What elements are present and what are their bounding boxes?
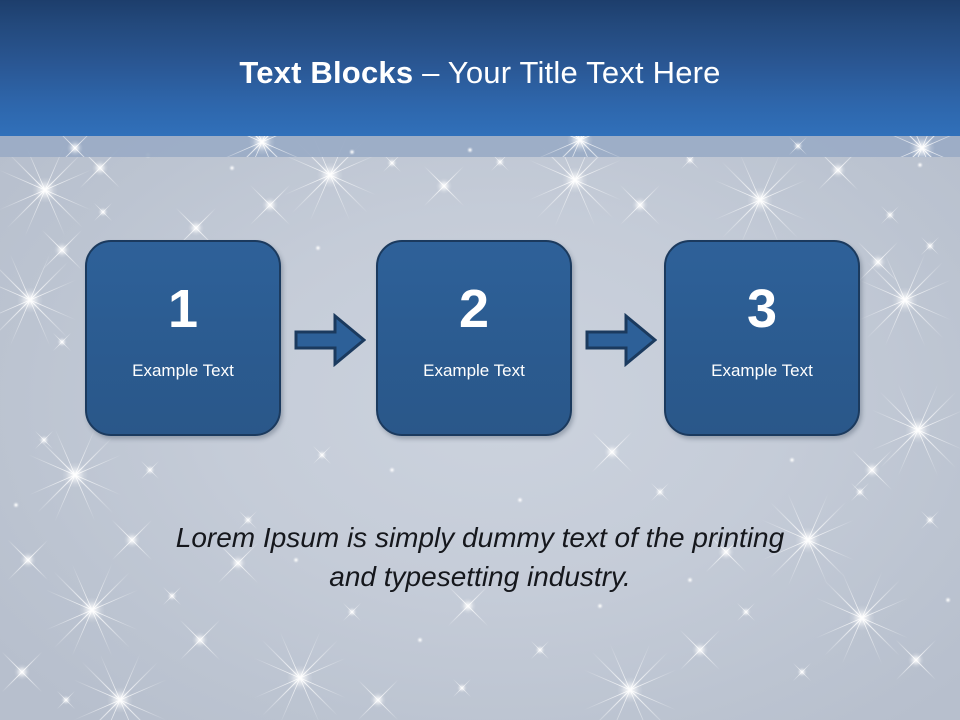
header-accent-band <box>0 136 960 157</box>
page-title-bold: Text Blocks <box>239 55 413 90</box>
block-1-label: Example Text <box>87 360 279 382</box>
caption-line-1: Lorem Ipsum is simply dummy text of the … <box>110 518 850 557</box>
text-block-1[interactable]: 1 Example Text <box>85 240 281 436</box>
block-3-label: Example Text <box>666 360 858 382</box>
slide: Text Blocks – Your Title Text Here 1 Exa… <box>0 0 960 720</box>
text-block-2[interactable]: 2 Example Text <box>376 240 572 436</box>
block-1-number: 1 <box>87 280 279 338</box>
page-title-regular: Your Title Text Here <box>448 55 721 90</box>
caption-line-2: and typesetting industry. <box>110 557 850 596</box>
page-title: Text Blocks – Your Title Text Here <box>0 55 960 91</box>
page-title-separator: – <box>413 55 448 90</box>
text-block-3[interactable]: 3 Example Text <box>664 240 860 436</box>
caption-text: Lorem Ipsum is simply dummy text of the … <box>110 518 850 596</box>
arrow-right-icon-1 <box>294 313 366 367</box>
block-2-label: Example Text <box>378 360 570 382</box>
block-3-number: 3 <box>666 280 858 338</box>
block-2-number: 2 <box>378 280 570 338</box>
arrow-right-icon-2 <box>585 313 657 367</box>
slide-header: Text Blocks – Your Title Text Here <box>0 0 960 136</box>
